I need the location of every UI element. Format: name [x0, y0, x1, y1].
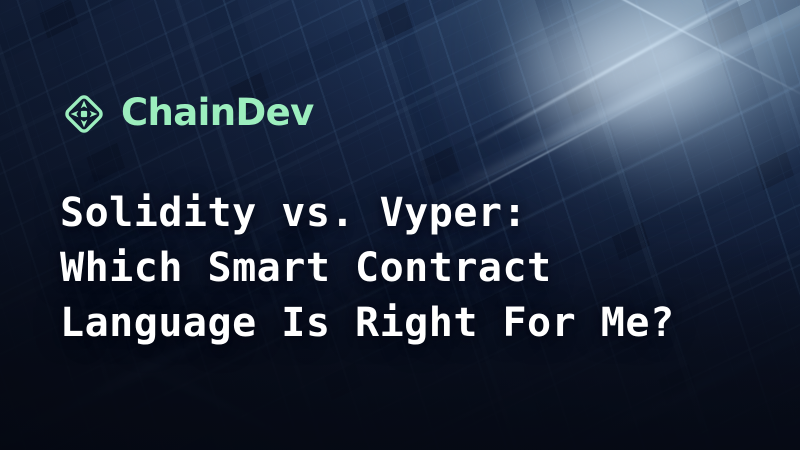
- headline-line-3: Language Is Right For Me?: [60, 296, 675, 351]
- headline: Solidity vs. Vyper: Which Smart Contract…: [60, 186, 675, 351]
- brand-name: ChainDev: [121, 94, 314, 134]
- brand-lockup[interactable]: ChainDev: [60, 90, 314, 138]
- diamond-compass-star-icon: [60, 90, 108, 138]
- headline-line-2: Which Smart Contract: [60, 241, 675, 296]
- content-layer: ChainDev Solidity vs. Vyper: Which Smart…: [0, 0, 800, 450]
- headline-line-1: Solidity vs. Vyper:: [60, 186, 675, 241]
- hero-banner: ChainDev Solidity vs. Vyper: Which Smart…: [0, 0, 800, 450]
